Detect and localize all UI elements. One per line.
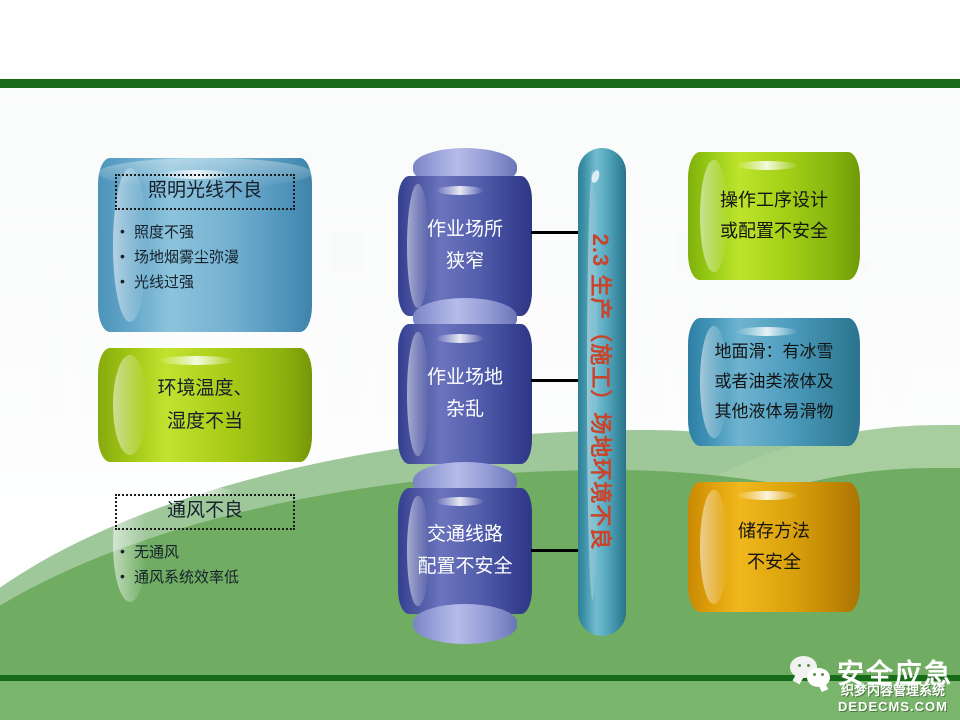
temperature-line-1: 环境温度、 [157,372,252,405]
slippery-ground-line-1: 地面滑：有冰雪 [715,337,834,367]
narrow-site-line-2: 狭窄 [446,246,484,278]
wechat-eye-1 [798,664,801,667]
lighting-bullet-list: 照度不强 场地烟雾尘弥漫 光线过强 [98,220,312,295]
cylinder-traffic-route[interactable]: 交通线路 配置不安全 [398,488,532,614]
slippery-ground-label: 地面滑：有冰雪 或者油类液体及 其他液体易滑物 [688,318,860,446]
watermark-line-1: 织梦内容管理系统 [838,680,948,699]
process-design-line-1: 操作工序设计 [720,185,828,216]
temperature-label: 环境温度、 湿度不当 [98,348,312,462]
messy-site-label: 作业场地 杂乱 [398,324,532,464]
list-item: 照度不强 [120,220,312,245]
list-item: 无通风 [120,540,312,565]
cylinder-messy-site-content: 作业场地 杂乱 [398,324,532,464]
traffic-route-line-2: 配置不安全 [417,551,512,583]
top-white-margin [0,0,960,79]
wechat-icon [790,656,830,687]
list-item: 通风系统效率低 [120,565,312,590]
narrow-site-line-1: 作业场所 [427,214,503,246]
temperature-line-2: 湿度不当 [167,405,243,438]
traffic-route-label: 交通线路 配置不安全 [398,488,532,614]
cylinder-lighting-content: 照明光线不良 照度不强 场地烟雾尘弥漫 光线过强 [98,174,312,348]
cylinder-process-design[interactable]: 操作工序设计 或配置不安全 [688,152,860,280]
narrow-site-label: 作业场所 狭窄 [398,176,532,316]
cylinder-storage-method[interactable]: 储存方法 不安全 [688,482,860,612]
cylinder-lighting[interactable]: 照明光线不良 照度不强 场地烟雾尘弥漫 光线过强 [98,158,312,332]
wechat-eye-3 [813,673,816,676]
messy-site-line-1: 作业场地 [427,362,503,394]
storage-method-line-1: 储存方法 [738,516,810,547]
cylinder-temperature-content: 环境温度、 湿度不当 [98,348,312,462]
cylinder-messy-site[interactable]: 作业场地 杂乱 [398,324,532,464]
spine-label: 2.3 生产（施工）场地环境不良 [586,234,618,551]
wechat-bubble-small [807,668,830,687]
cylinder-slippery-ground-content: 地面滑：有冰雪 或者油类液体及 其他液体易滑物 [688,318,860,446]
cylinder-narrow-site-content: 作业场所 狭窄 [398,176,532,316]
spine-cylinder[interactable]: 2.3 生产（施工）场地环境不良 [578,148,626,636]
watermark: 织梦内容管理系统 DEDECMS.COM [838,680,948,714]
list-item: 光线过强 [120,270,312,295]
top-green-rule [0,79,960,88]
slide-canvas: 照明光线不良 照度不强 场地烟雾尘弥漫 光线过强 环境温度、 湿度不当 通风不良 [0,0,960,720]
storage-method-line-2: 不安全 [747,547,801,578]
ventilation-title: 通风不良 [115,494,294,530]
cylinder-ventilation-content: 通风不良 无通风 通风系统效率低 [98,494,312,626]
cylinder-storage-method-content: 储存方法 不安全 [688,482,860,612]
wechat-eye-2 [807,664,810,667]
process-design-label: 操作工序设计 或配置不安全 [688,152,860,280]
cylinder-traffic-route-content: 交通线路 配置不安全 [398,488,532,614]
wechat-eye-4 [821,673,824,676]
list-item: 场地烟雾尘弥漫 [120,245,312,270]
cylinder-slippery-ground[interactable]: 地面滑：有冰雪 或者油类液体及 其他液体易滑物 [688,318,860,446]
process-design-line-2: 或配置不安全 [720,216,828,247]
slippery-ground-line-2: 或者油类液体及 [715,367,834,397]
ventilation-bullet-list: 无通风 通风系统效率低 [98,540,312,590]
watermark-line-2: DEDECMS.COM [838,699,948,714]
cylinder-ventilation[interactable]: 通风不良 无通风 通风系统效率低 [98,478,312,610]
cylinder-process-design-content: 操作工序设计 或配置不安全 [688,152,860,280]
slippery-ground-line-3: 其他液体易滑物 [715,397,834,427]
lighting-title: 照明光线不良 [115,174,294,210]
storage-method-label: 储存方法 不安全 [688,482,860,612]
traffic-route-line-1: 交通线路 [427,519,503,551]
cylinder-temperature[interactable]: 环境温度、 湿度不当 [98,348,312,462]
messy-site-line-2: 杂乱 [446,394,484,426]
cylinder-narrow-site[interactable]: 作业场所 狭窄 [398,176,532,316]
